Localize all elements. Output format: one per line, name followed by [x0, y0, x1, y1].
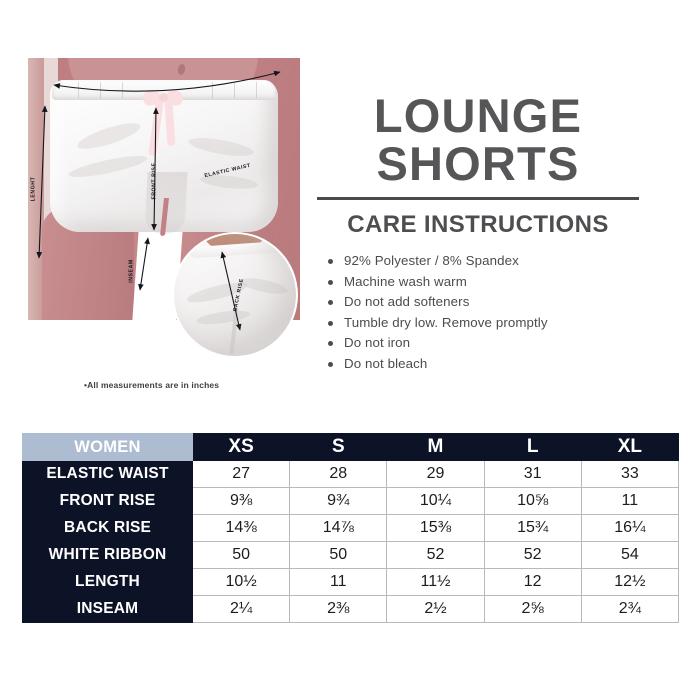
table-row: BACK RISE 14⅜ 14⅞ 15⅜ 15¾ 16¼: [23, 515, 679, 542]
cell-white-ribbon-xl: 54: [581, 542, 678, 569]
row-label-elastic-waist: ELASTIC WAIST: [23, 461, 193, 488]
cell-inseam-s: 2⅜: [290, 596, 387, 623]
cell-front-rise-l: 10⅝: [484, 488, 581, 515]
cell-back-rise-m: 15⅜: [387, 515, 484, 542]
table-row: ELASTIC WAIST 27 28 29 31 33: [23, 461, 679, 488]
row-label-length: LENGTH: [23, 569, 193, 596]
column-header-s: S: [290, 434, 387, 461]
cell-length-xs: 10½: [193, 569, 290, 596]
table-row: INSEAM 2¼ 2⅜ 2½ 2⅝ 2¾: [23, 596, 679, 623]
list-item: Do not iron: [328, 335, 646, 350]
cell-back-rise-s: 14⅞: [290, 515, 387, 542]
measurements-footnote: •All measurements are in inches: [84, 380, 219, 390]
bow-tail-left: [148, 100, 164, 156]
list-item: Tumble dry low. Remove promptly: [328, 315, 646, 330]
cell-front-rise-xs: 9⅜: [193, 488, 290, 515]
table-row: LENGTH 10½ 11 11½ 12 12½: [23, 569, 679, 596]
product-photo-block: ELASTIC WAIST LENGHT FRONT RISE INSEAM: [28, 58, 300, 320]
cell-length-l: 12: [484, 569, 581, 596]
cell-white-ribbon-xs: 50: [193, 542, 290, 569]
top-section: ELASTIC WAIST LENGHT FRONT RISE INSEAM: [0, 0, 700, 420]
cell-front-rise-m: 10¼: [387, 488, 484, 515]
cell-white-ribbon-s: 50: [290, 542, 387, 569]
cell-elastic-waist-l: 31: [484, 461, 581, 488]
drawstring-bow: [142, 90, 186, 160]
row-label-white-ribbon: WHITE RIBBON: [23, 542, 193, 569]
cell-inseam-l: 2⅝: [484, 596, 581, 623]
size-chart-table-wrap: WOMEN XS S M L XL ELASTIC WAIST 27 28 29…: [22, 433, 678, 623]
column-header-xs: XS: [193, 434, 290, 461]
cell-back-rise-l: 15¾: [484, 515, 581, 542]
info-panel: LOUNGE SHORTS CARE INSTRUCTIONS 92% Poly…: [310, 92, 646, 376]
bow-tail-right: [164, 100, 175, 146]
care-instructions-list: 92% Polyester / 8% Spandex Machine wash …: [328, 253, 646, 371]
size-chart-sheet: ELASTIC WAIST LENGHT FRONT RISE INSEAM: [0, 0, 700, 700]
cell-white-ribbon-m: 52: [387, 542, 484, 569]
row-label-back-rise: BACK RISE: [23, 515, 193, 542]
cell-length-s: 11: [290, 569, 387, 596]
column-header-xl: XL: [581, 434, 678, 461]
annotation-inseam: INSEAM: [129, 259, 135, 282]
cell-white-ribbon-l: 52: [484, 542, 581, 569]
column-header-l: L: [484, 434, 581, 461]
annotation-front-rise: FRONT RISE: [151, 163, 157, 200]
table-corner-label: WOMEN: [23, 434, 193, 461]
cell-back-rise-xs: 14⅜: [193, 515, 290, 542]
cell-front-rise-s: 9¾: [290, 488, 387, 515]
page-title-line1: LOUNGE: [310, 92, 646, 140]
list-item: Do not bleach: [328, 356, 646, 371]
care-instructions-heading: CARE INSTRUCTIONS: [310, 211, 646, 239]
row-label-front-rise: FRONT RISE: [23, 488, 193, 515]
cell-inseam-xs: 2¼: [193, 596, 290, 623]
cell-elastic-waist-xs: 27: [193, 461, 290, 488]
cell-back-rise-xl: 16¼: [581, 515, 678, 542]
back-view-inset: BACK RISE: [174, 234, 296, 356]
cell-elastic-waist-xl: 33: [581, 461, 678, 488]
cell-inseam-m: 2½: [387, 596, 484, 623]
cell-inseam-xl: 2¾: [581, 596, 678, 623]
inset-shading: [174, 234, 296, 356]
table-header-row: WOMEN XS S M L XL: [23, 434, 679, 461]
cell-front-rise-xl: 11: [581, 488, 678, 515]
cell-length-xl: 12½: [581, 569, 678, 596]
cell-elastic-waist-s: 28: [290, 461, 387, 488]
list-item: Machine wash warm: [328, 274, 646, 289]
bow-knot: [159, 93, 168, 102]
annotation-lenght: LENGHT: [30, 177, 36, 202]
page-title-line2: SHORTS: [310, 140, 646, 188]
cell-length-m: 11½: [387, 569, 484, 596]
list-item: Do not add softeners: [328, 294, 646, 309]
table-row: WHITE RIBBON 50 50 52 52 54: [23, 542, 679, 569]
table-row: FRONT RISE 9⅜ 9¾ 10¼ 10⅝ 11: [23, 488, 679, 515]
shorts-garment: [50, 80, 278, 240]
title-divider: [317, 197, 639, 200]
cell-elastic-waist-m: 29: [387, 461, 484, 488]
list-item: 92% Polyester / 8% Spandex: [328, 253, 646, 268]
row-label-inseam: INSEAM: [23, 596, 193, 623]
column-header-m: M: [387, 434, 484, 461]
size-chart-table: WOMEN XS S M L XL ELASTIC WAIST 27 28 29…: [22, 433, 679, 623]
